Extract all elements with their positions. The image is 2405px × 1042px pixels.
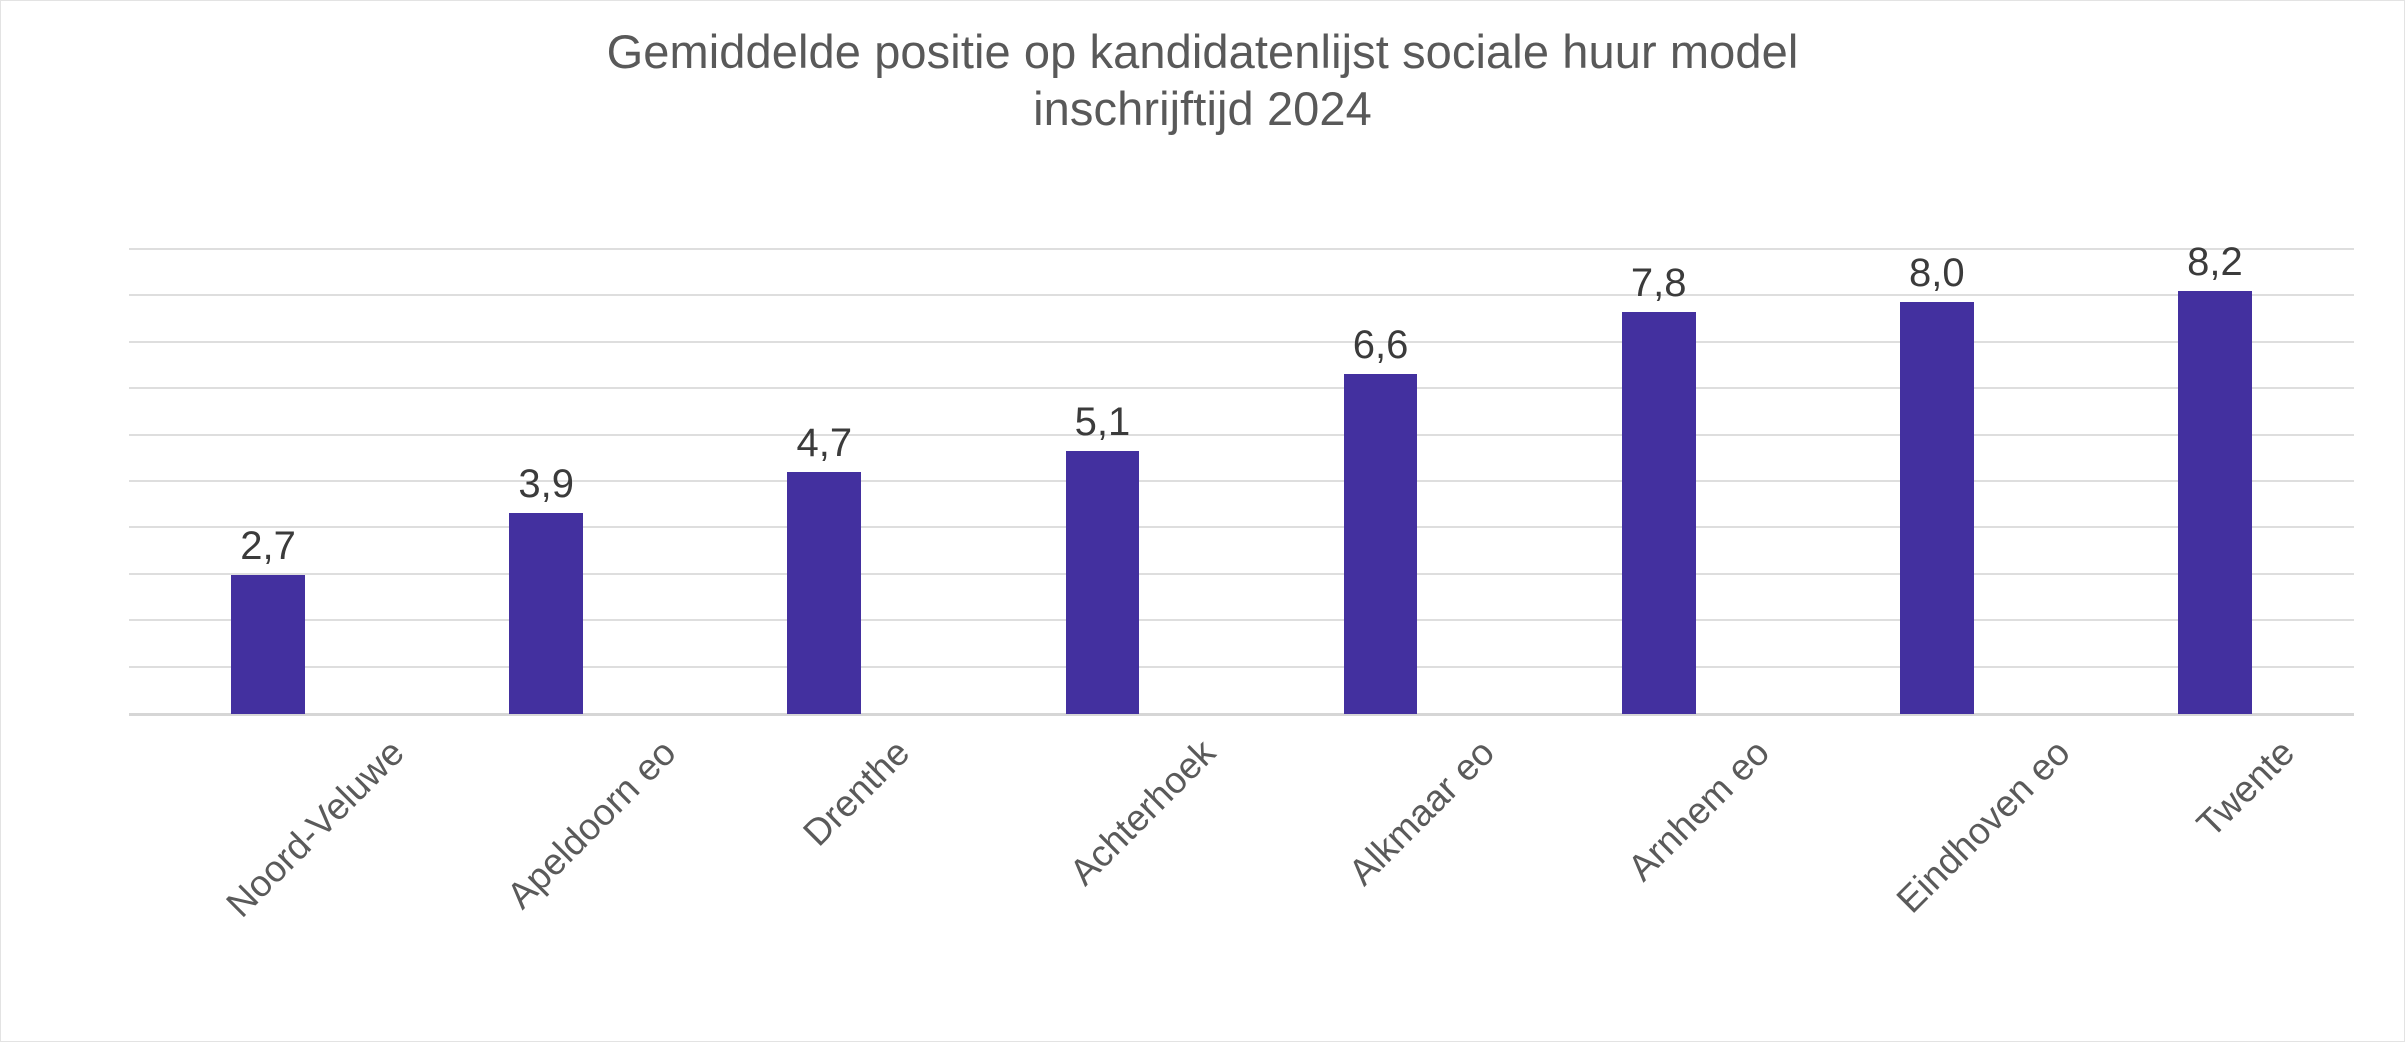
x-axis-category-label: Drenthe <box>797 733 916 852</box>
bar-slot: 6,6 <box>1242 250 1520 714</box>
bar-slot: 3,9 <box>407 250 685 714</box>
x-axis-label-slot: Eindhoven eo <box>1798 725 2076 1025</box>
chart-title: Gemiddelde positie op kandidatenlijst so… <box>1 23 2404 138</box>
x-axis-category-label: Arnhem eo <box>1621 733 1775 887</box>
bar[interactable]: 7,8 <box>1622 312 1696 714</box>
bar-value-label: 8,0 <box>1909 253 1965 293</box>
plot-area: 2,73,94,75,16,67,88,08,2 <box>129 250 2354 714</box>
bar-slot: 8,0 <box>1798 250 2076 714</box>
bar-value-label: 3,9 <box>518 464 574 504</box>
chart-container: Gemiddelde positie op kandidatenlijst so… <box>0 0 2405 1042</box>
bar[interactable]: 4,7 <box>787 472 861 714</box>
bar[interactable]: 3,9 <box>509 513 583 714</box>
bar[interactable]: 8,0 <box>1900 302 1974 714</box>
x-axis-category-label: Achterhoek <box>1064 733 1223 892</box>
x-axis-label-slot: Achterhoek <box>963 725 1241 1025</box>
bar-value-label: 7,8 <box>1631 263 1687 303</box>
bar-value-label: 8,2 <box>2187 242 2243 282</box>
bar-slot: 7,8 <box>1520 250 1798 714</box>
bar[interactable]: 2,7 <box>231 575 305 714</box>
bar-value-label: 6,6 <box>1353 325 1409 365</box>
x-axis-label-slot: Apeldoorn eo <box>407 725 685 1025</box>
x-axis-label-slot: Alkmaar eo <box>1242 725 1520 1025</box>
bar-slot: 5,1 <box>963 250 1241 714</box>
x-axis-label-slot: Arnhem eo <box>1520 725 1798 1025</box>
x-axis-category-label: Alkmaar eo <box>1342 733 1500 891</box>
bar-value-label: 2,7 <box>240 526 296 566</box>
bar-slot: 8,2 <box>2076 250 2354 714</box>
x-axis-label-slot: Noord-Veluwe <box>129 725 407 1025</box>
bar-series: 2,73,94,75,16,67,88,08,2 <box>129 250 2354 714</box>
bar[interactable]: 8,2 <box>2178 291 2252 714</box>
bar-value-label: 4,7 <box>796 423 852 463</box>
bar[interactable]: 6,6 <box>1344 374 1418 714</box>
bar-value-label: 5,1 <box>1075 402 1131 442</box>
x-axis-category-label: Apeldoorn eo <box>501 733 683 915</box>
bar-slot: 2,7 <box>129 250 407 714</box>
bar[interactable]: 5,1 <box>1066 451 1140 714</box>
x-axis-category-label: Eindhoven eo <box>1890 733 2076 919</box>
x-axis-label-slot: Drenthe <box>685 725 963 1025</box>
x-axis-category-label: Noord-Veluwe <box>220 733 410 923</box>
x-axis-category-label: Twente <box>2190 733 2301 844</box>
x-axis-category-labels: Noord-VeluweApeldoorn eoDrentheAchterhoe… <box>129 725 2354 1025</box>
bar-slot: 4,7 <box>685 250 963 714</box>
x-axis-label-slot: Twente <box>2076 725 2354 1025</box>
